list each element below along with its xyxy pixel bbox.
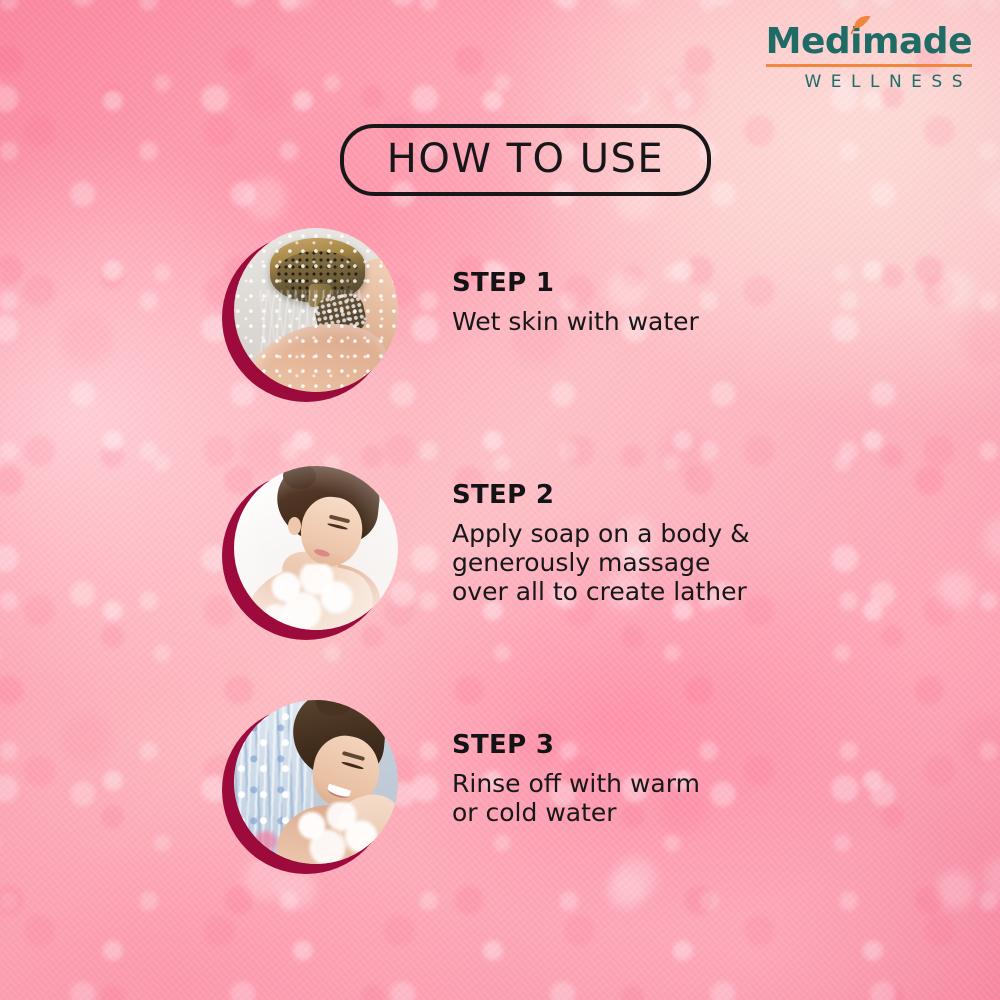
step-1-text: STEP 1 Wet skin with water (452, 270, 922, 337)
brand-logo: Medimade WELLNESS (766, 24, 972, 91)
step-2-label: STEP 2 (452, 482, 922, 508)
water-droplets (234, 228, 398, 392)
step-row-2: STEP 2 Apply soap on a body & generously… (0, 466, 1000, 636)
step-3-label: STEP 3 (452, 732, 922, 758)
step-row-1: STEP 1 Wet skin with water (0, 228, 1000, 398)
shower-head-photo-scene (234, 228, 398, 392)
soap-foam (286, 802, 384, 864)
step-3-description: Rinse off with warm or cold water (452, 770, 922, 828)
step-1-description: Wet skin with water (452, 308, 922, 337)
step-3-text: STEP 3 Rinse off with warm or cold water (452, 732, 922, 828)
step-2-text: STEP 2 Apply soap on a body & generously… (452, 482, 922, 606)
step-2-description: Apply soap on a body & generously massag… (452, 520, 922, 606)
page-title: HOW TO USE (387, 136, 664, 182)
step-1-label: STEP 1 (452, 270, 922, 296)
page-title-box: HOW TO USE (340, 124, 711, 196)
rinse-shower-photo (234, 700, 398, 864)
step-2-image-wrap (222, 466, 398, 642)
pink-blur-accent (254, 831, 277, 851)
leaf-icon (850, 15, 872, 34)
brand-tagline: WELLNESS (766, 74, 972, 91)
step-row-3: STEP 3 Rinse off with warm or cold water (0, 700, 1000, 870)
step-3-image-wrap (222, 700, 398, 876)
shower-head-photo (234, 228, 398, 392)
brand-underline (766, 64, 972, 67)
soap-lather-photo (234, 466, 398, 630)
rinse-shower-photo-scene (234, 700, 398, 864)
soap-lather-photo-scene (234, 466, 398, 630)
how-to-use-poster: Medimade WELLNESS HOW TO USE (0, 0, 1000, 1000)
step-1-image-wrap (222, 228, 398, 404)
photo-highlight (234, 466, 398, 630)
